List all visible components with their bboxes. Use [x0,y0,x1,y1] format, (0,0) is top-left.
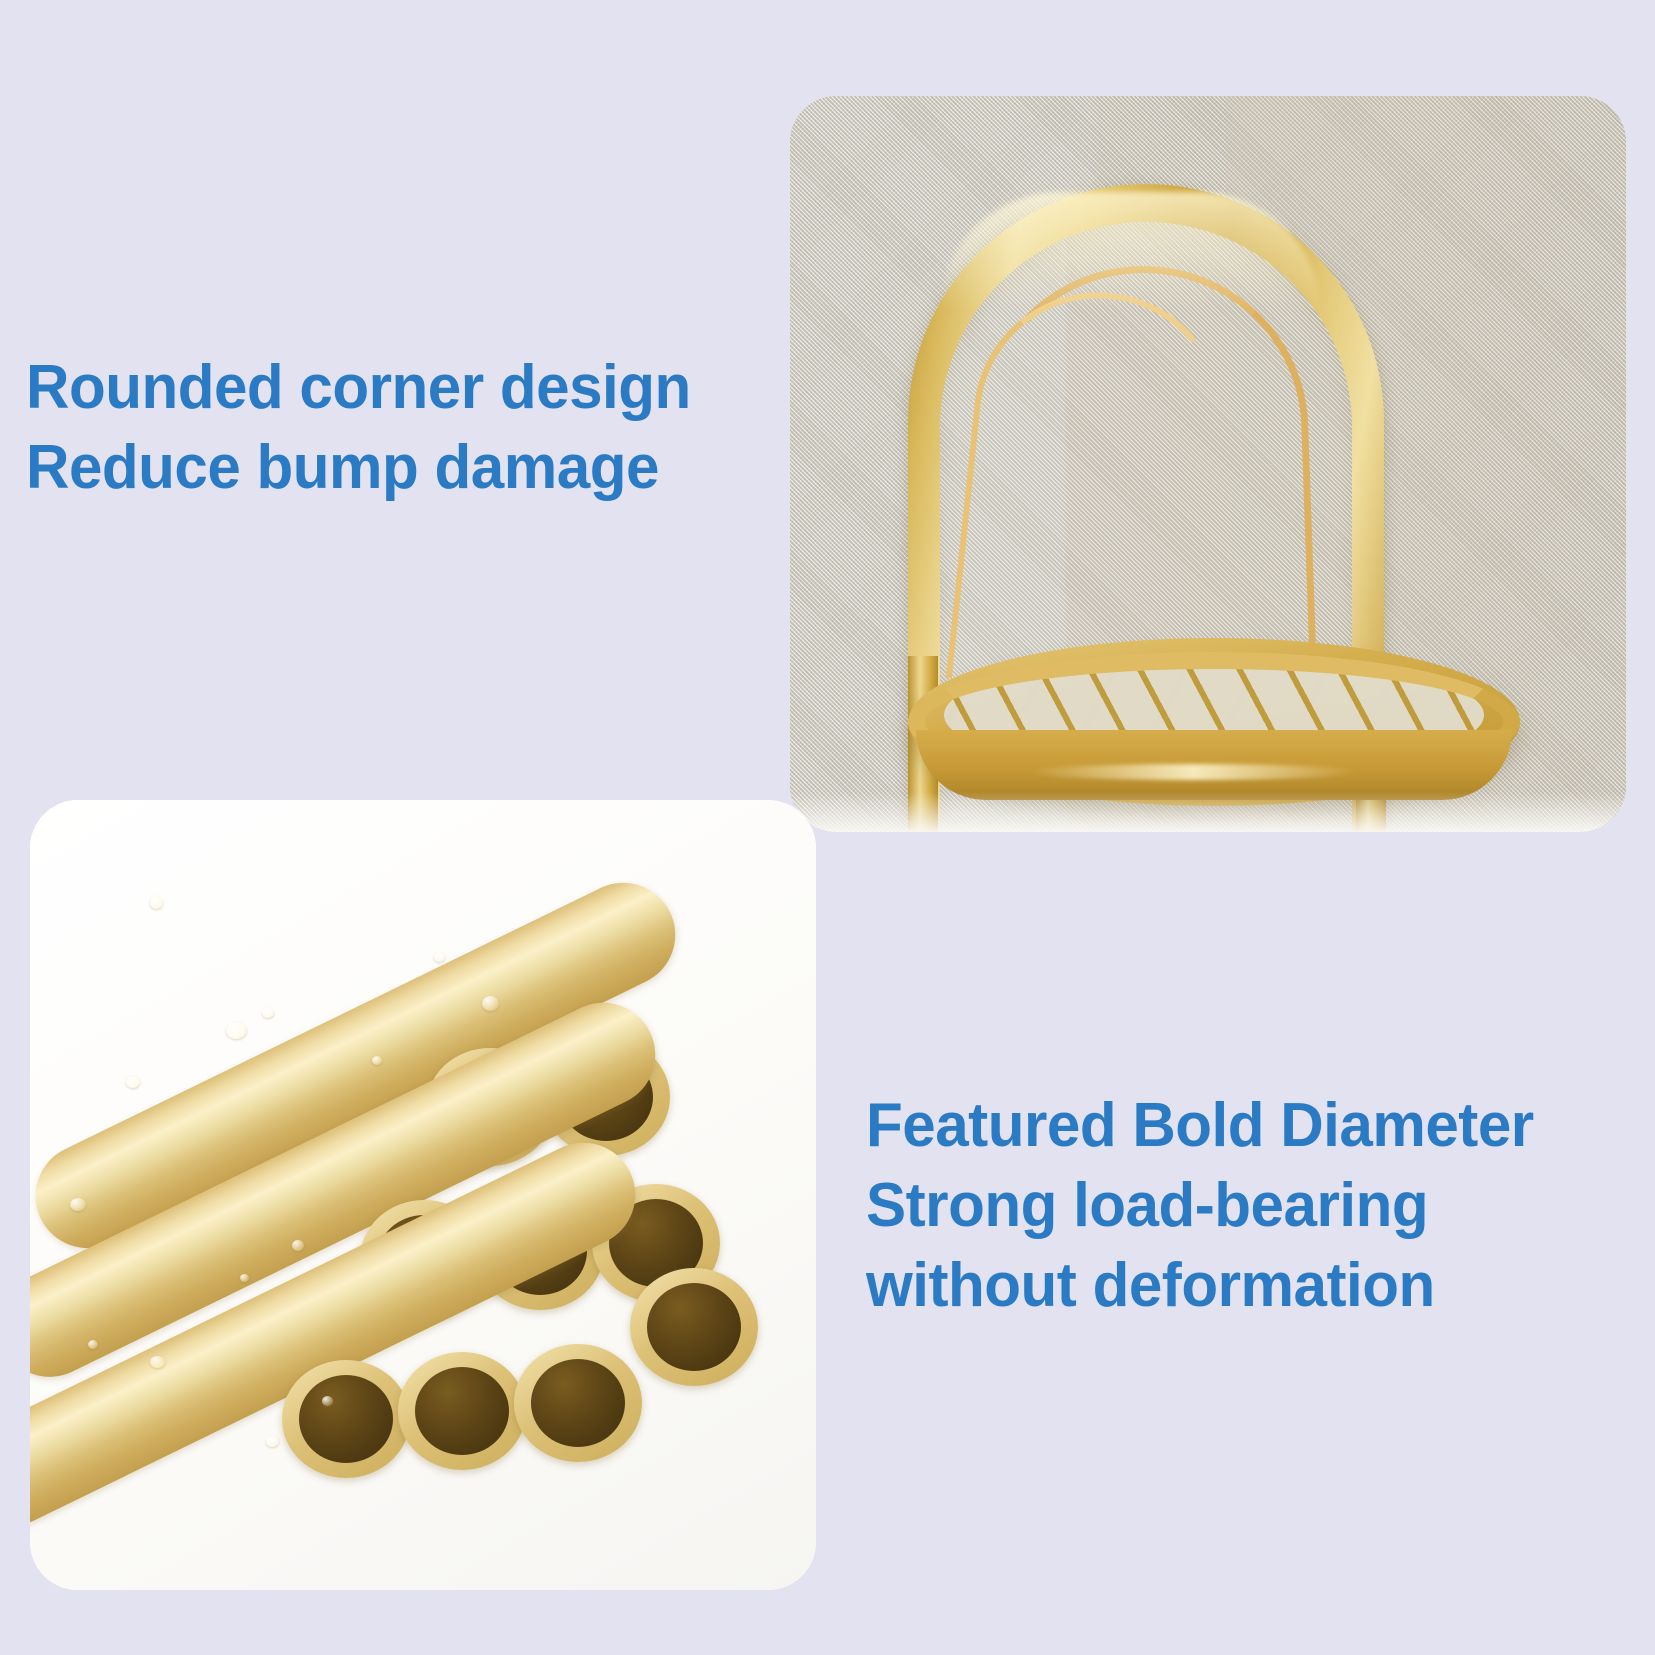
floor-line [790,792,1626,832]
headline-left-line-1: Rounded corner design [26,348,691,428]
infographic-page: Rounded corner design Reduce bump damage… [0,0,1655,1655]
headline-bold-diameter: Featured Bold Diameter Strong load-beari… [866,1086,1534,1326]
water-droplet [434,952,445,962]
tube-open-end [398,1352,526,1470]
tube-open-end [630,1268,758,1386]
water-droplet [226,1022,247,1039]
water-droplet [262,1008,274,1018]
water-droplet [266,1436,279,1447]
brass-tube-stack-photo [30,800,816,1590]
water-droplet [292,1240,304,1251]
water-droplet [126,1076,140,1088]
headline-rounded-corner: Rounded corner design Reduce bump damage [26,348,691,508]
water-droplet [482,996,499,1011]
headline-right-line-2: Strong load-bearing [866,1166,1534,1246]
headline-right-line-1: Featured Bold Diameter [866,1086,1534,1166]
headline-right-line-3: without deformation [866,1246,1534,1326]
arch-highlight-gloss [940,192,1320,312]
water-droplet [88,1340,98,1349]
water-droplet [70,1198,86,1211]
water-droplet [322,1396,333,1406]
water-droplet [150,896,163,909]
gold-arch-shelf-photo [790,96,1626,832]
water-droplet [240,1274,249,1282]
water-droplet [150,1356,165,1368]
shelf-edge-highlight [1028,764,1358,780]
round-mesh-shelf [908,638,1520,806]
tube-open-end [514,1344,642,1462]
water-droplet [372,1056,382,1065]
tube-stack [30,800,816,1590]
tube-open-end [282,1360,410,1478]
headline-left-line-2: Reduce bump damage [26,428,691,508]
